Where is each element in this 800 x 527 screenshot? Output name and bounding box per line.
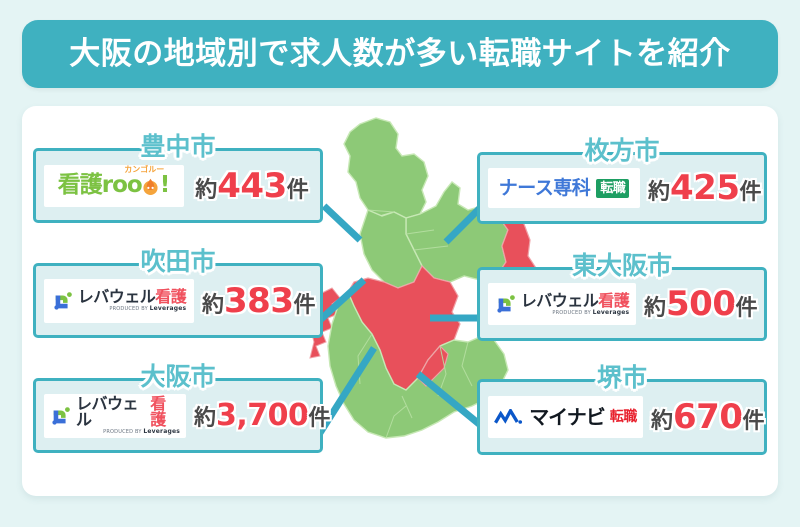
count-toyonaka: 約443件 [192, 169, 312, 203]
count-suffix: 件 [743, 409, 765, 434]
logo-credit-pre: PRODUCED BY [103, 429, 141, 435]
logo-credit-brand: Leverages [150, 305, 187, 312]
count-osaka: 約3,700件 [194, 401, 330, 431]
logo-credit-brand: Leverages [593, 309, 630, 316]
levwell-mark-icon [495, 293, 517, 315]
page-title: 大阪の地域別で求人数が多い転職サイトを紹介 [69, 39, 731, 70]
map-region-north [344, 118, 428, 218]
count-prefix: 約 [648, 180, 670, 205]
card-body-suita: レバウェル 看護 PRODUCED BY Leverages 約383件 [36, 266, 320, 335]
logo-nurse-senka[interactable]: ナース専科 転職 [488, 168, 640, 208]
levwell-mark-icon [52, 290, 74, 312]
logo-levwell-credit: PRODUCED BY Leverages [521, 310, 630, 316]
card-suita[interactable]: 吹田市 レバウェル 看護 [33, 263, 323, 338]
logo-tenshoku-badge: 転職 [596, 179, 629, 198]
logo-kangoroo[interactable]: カンゴルー 看護 roo ! [44, 165, 184, 207]
count-prefix: 約 [202, 293, 224, 318]
count-value: 670 [673, 397, 742, 437]
card-body-sakai: マイナビ 転職 約670件 [480, 382, 764, 452]
card-higashiosaka[interactable]: 東大阪市 レバウェル 看護 [477, 267, 767, 341]
logo-mynavi[interactable]: マイナビ 転職 [488, 396, 643, 438]
count-value: 500 [666, 284, 735, 324]
card-body-higashiosaka: レバウェル 看護 PRODUCED BY Leverages 約500件 [480, 270, 764, 338]
card-sakai[interactable]: 堺市 マイナビ 転職 約670件 [477, 379, 767, 455]
logo-ruby-kangoroo: カンゴルー [124, 166, 164, 174]
logo-credit-pre: PRODUCED BY [552, 310, 590, 316]
count-value: 425 [670, 168, 739, 208]
logo-roo-text: roo [102, 174, 142, 197]
logo-levwell-higashiosaka[interactable]: レバウェル 看護 PRODUCED BY Leverages [488, 283, 636, 325]
logo-levwell-credit: PRODUCED BY Leverages [78, 306, 187, 312]
count-suffix: 件 [308, 406, 330, 431]
count-higashiosaka: 約500件 [644, 287, 758, 321]
logo-levwell-kango: 看護 [150, 396, 180, 428]
logo-levwell-kango: 看護 [155, 289, 186, 305]
logo-levwell-text: レバウェル [78, 289, 156, 305]
count-suffix: 件 [287, 178, 309, 203]
count-suita: 約383件 [202, 284, 316, 318]
logo-levwell-text: レバウェル [76, 396, 150, 428]
logo-levwell-suita[interactable]: レバウェル 看護 PRODUCED BY Leverages [44, 279, 194, 323]
count-sakai: 約670件 [651, 400, 765, 434]
count-value: 3,700 [216, 398, 308, 433]
logo-mynavi-tenshoku: 転職 [610, 410, 637, 424]
count-suffix: 件 [740, 180, 762, 205]
logo-exclamation: ! [160, 174, 171, 197]
logo-credit-pre: PRODUCED BY [109, 306, 147, 312]
header-banner: 大阪の地域別で求人数が多い転職サイトを紹介 [22, 20, 778, 88]
count-prefix: 約 [644, 296, 666, 321]
count-suffix: 件 [294, 293, 316, 318]
card-body-hirakata: ナース専科 転職 約425件 [480, 155, 764, 221]
logo-mynavi-text: マイナビ [529, 407, 605, 427]
card-toyonaka[interactable]: 豊中市 カンゴルー 看護 roo ! [33, 148, 323, 223]
logo-levwell-credit: PRODUCED BY Leverages [76, 429, 180, 435]
count-prefix: 約 [194, 406, 216, 431]
card-body-osaka: レバウェル 看護 PRODUCED BY Leverages 約3,700件 [36, 381, 320, 450]
count-prefix: 約 [651, 409, 673, 434]
logo-kanji-kangoroo: 看護 [58, 174, 102, 197]
infographic-root: 大阪の地域別で求人数が多い転職サイトを紹介 [0, 0, 800, 527]
mynavi-mark-icon [494, 409, 524, 426]
logo-credit-brand: Leverages [143, 428, 180, 435]
count-value: 383 [224, 281, 293, 321]
logo-nurse-text: ナース専科 [499, 179, 591, 198]
kangaroo-flame-icon [142, 177, 159, 196]
levwell-mark-icon [50, 405, 72, 427]
count-prefix: 約 [195, 178, 217, 203]
card-osaka[interactable]: 大阪市 レバウェル 看護 [33, 378, 323, 453]
count-value: 443 [217, 166, 286, 206]
logo-levwell-text: レバウェル [521, 293, 599, 309]
logo-levwell-osaka[interactable]: レバウェル 看護 PRODUCED BY Leverages [44, 394, 186, 438]
card-hirakata[interactable]: 枚方市 ナース専科 転職 約425件 [477, 152, 767, 224]
card-body-toyonaka: カンゴルー 看護 roo ! 約443件 [36, 151, 320, 220]
count-hirakata: 約425件 [648, 171, 762, 205]
count-suffix: 件 [736, 296, 758, 321]
logo-levwell-kango: 看護 [598, 293, 629, 309]
content-panel: 豊中市 カンゴルー 看護 roo ! [22, 106, 778, 496]
